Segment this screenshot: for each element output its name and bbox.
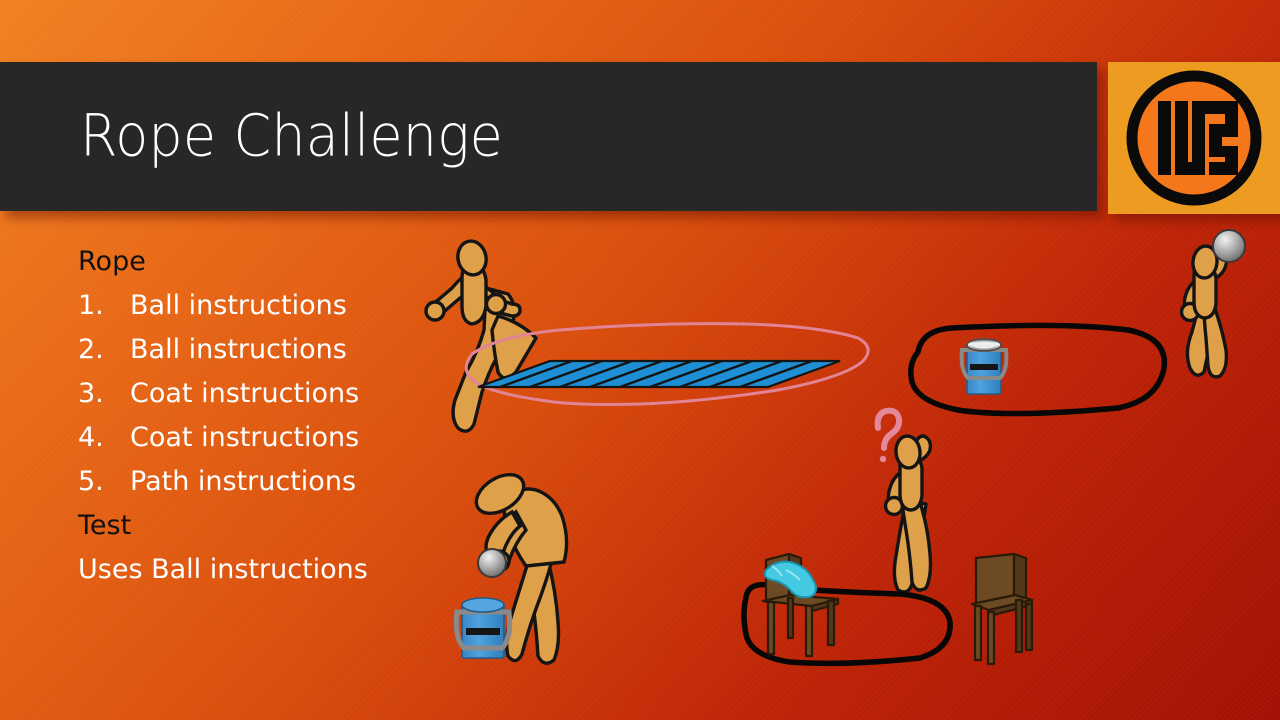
black-lasso-bucket — [911, 325, 1165, 413]
ball-holding-figure — [1182, 230, 1246, 377]
list-item: 2. Ball instructions — [78, 328, 478, 372]
list-item-number: 5. — [78, 460, 130, 504]
thinking-figure — [886, 435, 931, 592]
test-usage-line: Uses Ball instructions — [78, 548, 478, 592]
empty-chair — [972, 554, 1032, 664]
list-item-number: 1. — [78, 284, 130, 328]
list-item-label: Coat instructions — [130, 416, 478, 460]
list-item-number: 3. — [78, 372, 130, 416]
list-item: 4. Coat instructions — [78, 416, 478, 460]
content-list: Rope 1. Ball instructions 2. Ball instru… — [78, 240, 478, 592]
list-item-number: 4. — [78, 416, 130, 460]
list-item-label: Ball instructions — [130, 328, 478, 372]
chair-with-coat — [763, 554, 838, 656]
ilg-logo-icon — [1108, 62, 1280, 214]
page-title: Rope Challenge — [80, 101, 503, 169]
list-item: 3. Coat instructions — [78, 372, 478, 416]
list-item-label: Path instructions — [130, 460, 478, 504]
list-heading-rope: Rope — [78, 240, 478, 284]
blue-bucket — [962, 339, 1007, 394]
title-bar: Rope Challenge — [0, 62, 1097, 211]
list-item-label: Ball instructions — [130, 284, 478, 328]
list-item: 5. Path instructions — [78, 460, 478, 504]
logo-container — [1108, 62, 1280, 214]
list-item-label: Coat instructions — [130, 372, 478, 416]
list-item: 1. Ball instructions — [78, 284, 478, 328]
blue-barrel — [456, 598, 509, 658]
striped-mat — [478, 361, 840, 387]
slide-canvas: .fig { fill:#DFA04A; stroke:#141414; str… — [0, 0, 1280, 720]
list-item-number: 2. — [78, 328, 130, 372]
list-heading-test: Test — [78, 504, 478, 548]
